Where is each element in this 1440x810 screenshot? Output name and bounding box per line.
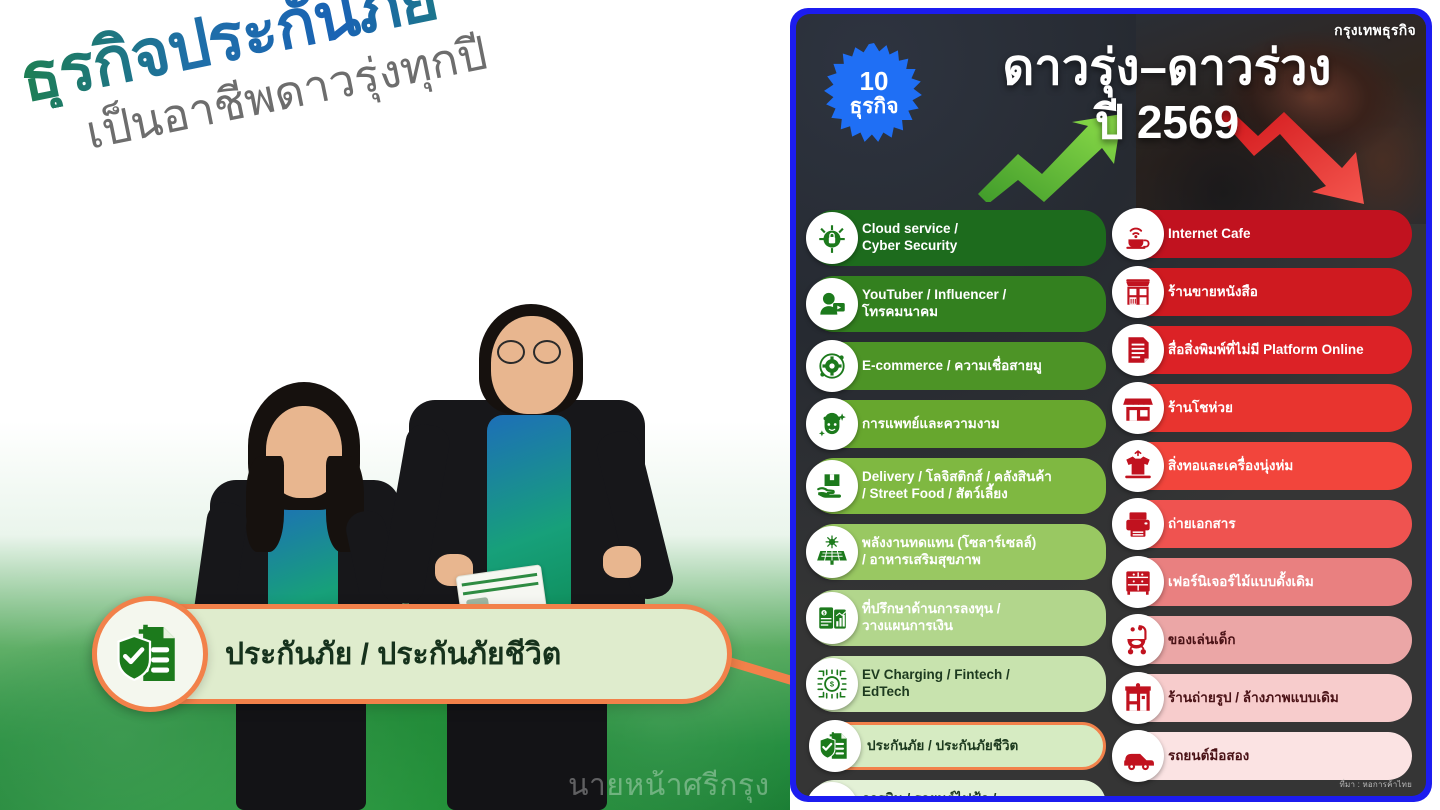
list-item-label: ของเล่นเด็ก xyxy=(1168,632,1236,649)
list-item-label: การแพทย์และความงาม xyxy=(862,416,1000,433)
delivery-package-hand-icon xyxy=(806,460,858,512)
list-item-label: การบิน / รถยนต์ไฟฟ้า /ตู้หยอดเหรียญ xyxy=(862,791,996,796)
count-badge: 10 ธุรกิจ xyxy=(822,42,926,146)
list-item[interactable]: E-commerce / ความเชื่อสายมู xyxy=(810,342,1106,390)
list-item[interactable]: Internet Cafe xyxy=(1116,210,1412,258)
list-item[interactable]: Cloud service /Cyber Security xyxy=(810,210,1106,266)
list-item-label: ร้านถ่ายรูป / ล้างภาพแบบเดิม xyxy=(1168,690,1339,707)
badge-number: 10 xyxy=(860,68,889,94)
list-item[interactable]: YouTuber / Influencer /โทรคมนาคม xyxy=(810,276,1106,332)
insurance-document-shield-icon xyxy=(809,720,861,772)
person-male xyxy=(375,250,675,810)
list-item[interactable]: Delivery / โลจิสติกส์ / คลังสินค้า/ Stre… xyxy=(810,458,1106,514)
svg-text:$: $ xyxy=(830,680,835,689)
list-item-label: ถ่ายเอกสาร xyxy=(1168,516,1236,533)
list-item[interactable]: $ EV Charging / Fintech /EdTech xyxy=(810,656,1106,712)
business-lists: Cloud service /Cyber Security YouTuber /… xyxy=(796,210,1426,796)
list-item[interactable]: ถ่ายเอกสาร xyxy=(1116,500,1412,548)
wifi-coffee-cup-icon xyxy=(1112,208,1164,260)
card-title-block: ดาวรุ่ง–ดาวร่วง ปี 2569 xyxy=(932,44,1402,145)
list-item[interactable]: ร้านถ่ายรูป / ล้างภาพแบบเดิม xyxy=(1116,674,1412,722)
list-item[interactable]: เฟอร์นิเจอร์ไม้แบบดั้งเดิม xyxy=(1116,558,1412,606)
source-credit: ที่มา : หอการค้าไทย xyxy=(1340,778,1412,791)
list-item-label: Delivery / โลจิสติกส์ / คลังสินค้า/ Stre… xyxy=(862,469,1052,503)
list-item-label: YouTuber / Influencer /โทรคมนาคม xyxy=(862,287,1006,321)
list-item[interactable]: สื่อสิ่งพิมพ์ที่ไม่มี Platform Online xyxy=(1116,326,1412,374)
list-item-label: พลังงานทดแทน (โซลาร์เซลล์)/ อาหารเสริมสุ… xyxy=(862,535,1036,569)
ev-car-plug-icon xyxy=(806,782,858,796)
list-item-label: รถยนต์มือสอง xyxy=(1168,748,1249,765)
list-item-label: สื่อสิ่งพิมพ์ที่ไม่มี Platform Online xyxy=(1168,342,1364,359)
photo-studio-shop-icon xyxy=(1112,672,1164,724)
e-commerce-gear-icon xyxy=(806,340,858,392)
list-item[interactable]: ร้านขายหนังสือ xyxy=(1116,268,1412,316)
investment-chart-document-icon: $ xyxy=(806,592,858,644)
youtuber-influencer-icon xyxy=(806,278,858,330)
rising-column: Cloud service /Cyber Security YouTuber /… xyxy=(810,210,1106,796)
textile-tshirt-icon xyxy=(1112,440,1164,492)
list-item-label: ประกันภัย / ประกันภัยชีวิต xyxy=(867,738,1018,755)
brand-logo: กรุงเทพธุรกิจ xyxy=(1334,20,1416,42)
infographic-card: กรุงเทพธุรกิจ 10 ธุรกิจ ดาวรุ่ง–ดาวร่วง … xyxy=(790,8,1432,802)
list-item[interactable]: สิ่งทอและเครื่องนุ่งห่ม xyxy=(1116,442,1412,490)
list-item-label: EV Charging / Fintech /EdTech xyxy=(862,667,1010,701)
card-subtitle: ปี 2569 xyxy=(932,99,1402,145)
list-item-label: ร้านขายหนังสือ xyxy=(1168,284,1258,301)
bookstore-shop-icon xyxy=(1112,266,1164,318)
list-item-label: Cloud service /Cyber Security xyxy=(862,221,958,255)
agents-photo xyxy=(180,210,700,810)
solar-panel-icon xyxy=(806,526,858,578)
list-item-label: ที่ปรึกษาด้านการลงทุน /วางแผนการเงิน xyxy=(862,601,1000,635)
watermark-text: นายหน้าศรีกรุง xyxy=(568,762,770,809)
list-item-label: E-commerce / ความเชื่อสายมู xyxy=(862,358,1042,375)
falling-column: Internet Cafe ร้านขายหนังสือ สื่อสิ่งพิม… xyxy=(1116,210,1412,796)
insurance-document-shield-icon xyxy=(92,596,208,712)
printed-document-icon xyxy=(1112,324,1164,376)
list-item-label: ร้านโชห่วย xyxy=(1168,400,1233,417)
list-item[interactable]: การบิน / รถยนต์ไฟฟ้า /ตู้หยอดเหรียญ xyxy=(810,780,1106,796)
photocopier-printer-icon xyxy=(1112,498,1164,550)
card-title: ดาวรุ่ง–ดาวร่วง xyxy=(932,44,1402,93)
left-promo-panel: ธุรกิจประกันภัย เป็นอาชีพดาวรุ่งทุกปี xyxy=(0,0,790,810)
list-item[interactable]: ของเล่นเด็ก xyxy=(1116,616,1412,664)
grocery-store-icon xyxy=(1112,382,1164,434)
used-car-icon xyxy=(1112,730,1164,782)
list-item[interactable]: ประกันภัย / ประกันภัยชีวิต xyxy=(810,722,1106,770)
list-item[interactable]: ร้านโชห่วย xyxy=(1116,384,1412,432)
list-item-label: Internet Cafe xyxy=(1168,226,1251,243)
list-item[interactable]: พลังงานทดแทน (โซลาร์เซลล์)/ อาหารเสริมสุ… xyxy=(810,524,1106,580)
badge-label: ธุรกิจ xyxy=(849,95,898,119)
beauty-medical-face-icon xyxy=(806,398,858,450)
cloud-security-lock-icon xyxy=(806,212,858,264)
ev-charging-fintech-icon: $ xyxy=(806,658,858,710)
callout-label: ประกันภัย / ประกันภัยชีวิต xyxy=(225,631,561,678)
list-item[interactable]: $ ที่ปรึกษาด้านการลงทุน /วางแผนการเงิน xyxy=(810,590,1106,646)
list-item[interactable]: รถยนต์มือสอง xyxy=(1116,732,1412,780)
list-item-label: เฟอร์นิเจอร์ไม้แบบดั้งเดิม xyxy=(1168,574,1314,591)
wood-furniture-cabinet-icon xyxy=(1112,556,1164,608)
list-item-label: สิ่งทอและเครื่องนุ่งห่ม xyxy=(1168,458,1293,475)
baby-stroller-toy-icon xyxy=(1112,614,1164,666)
list-item[interactable]: การแพทย์และความงาม xyxy=(810,400,1106,448)
